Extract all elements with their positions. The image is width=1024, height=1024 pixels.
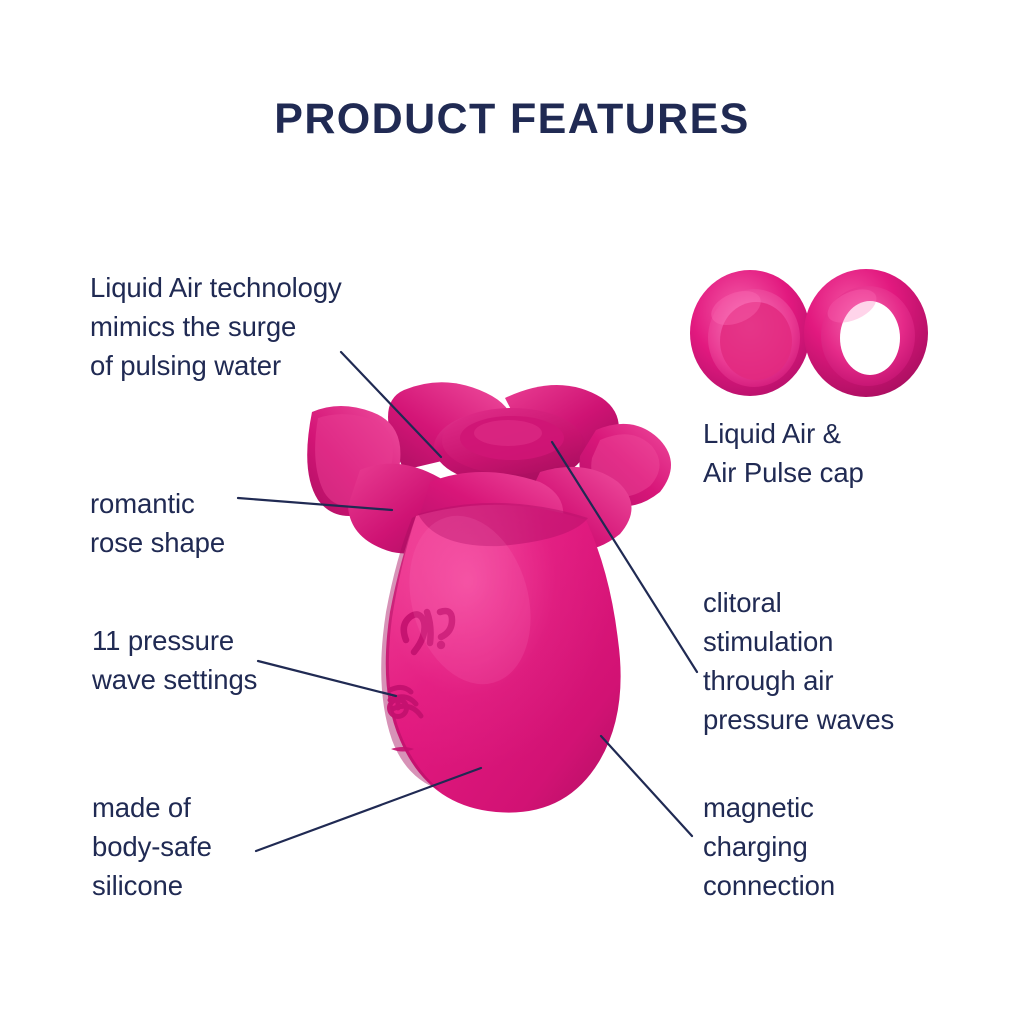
petal-back-right xyxy=(505,385,619,461)
product-body xyxy=(386,505,621,813)
center-air-cap xyxy=(434,408,586,485)
leader-magnetic xyxy=(601,736,692,836)
petal-front-right xyxy=(526,467,632,551)
accessory-caps xyxy=(690,269,928,397)
page-title: PRODUCT FEATURES xyxy=(0,96,1024,143)
satisfyer-logo-icon xyxy=(404,611,452,652)
logo-dot-icon xyxy=(437,641,445,649)
callout-magnetic-charging: magnetic charging connection xyxy=(703,788,1003,905)
product-features-infographic: PRODUCT FEATURES xyxy=(0,0,1024,1024)
callout-clitoral-stimulation: clitoral stimulation through air pressur… xyxy=(703,583,1003,739)
air-pulse-cap xyxy=(804,269,928,397)
petal-front-center xyxy=(420,472,563,553)
rose-product xyxy=(307,382,671,812)
callout-pressure-wave-settings: 11 pressure wave settings xyxy=(92,621,392,699)
air-wave-button-icon xyxy=(390,687,422,716)
callout-liquid-air-technology: Liquid Air technology mimics the surge o… xyxy=(90,268,430,385)
liquid-air-cap xyxy=(690,270,810,396)
callout-liquid-air-pulse-cap: Liquid Air & Air Pulse cap xyxy=(703,414,1003,492)
callout-romantic-rose-shape: romantic rose shape xyxy=(90,484,390,562)
callout-body-safe-silicone: made of body-safe silicone xyxy=(92,788,372,905)
petal-back-left xyxy=(388,382,515,470)
leader-clitoral xyxy=(552,442,697,672)
petal-right-outer xyxy=(579,424,671,506)
minus-button-icon xyxy=(391,747,414,752)
